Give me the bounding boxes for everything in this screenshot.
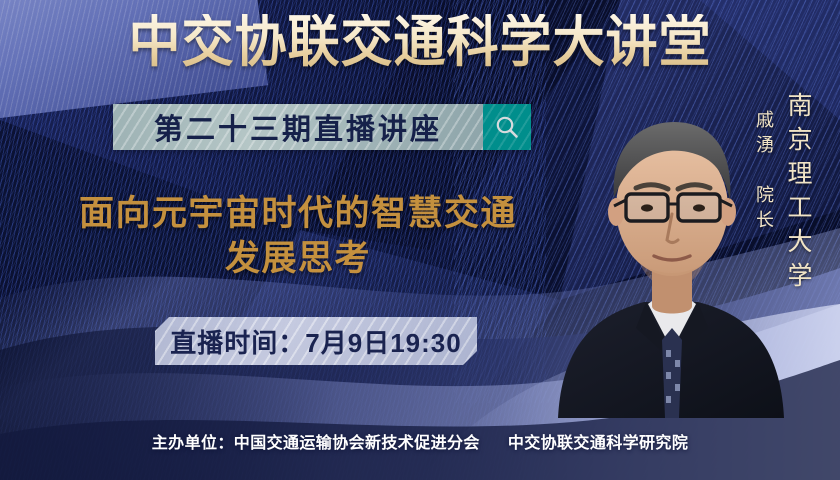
organizers-footer: 主办单位：中国交通运输协会新技术促进分会中交协联交通科学研究院 — [0, 429, 840, 453]
organizer-1: 中国交通运输协会新技术促进分会 — [234, 435, 480, 452]
live-lecture-poster: 中交协联交通科学大讲堂 第二十三期直播讲座 面向元宇宙时代的智慧交通 发展思考 … — [0, 0, 840, 480]
lecture-title-line1: 面向元宇宙时代的智慧交通 — [79, 194, 517, 233]
broadcast-time-label: 直播时间：7月9日19:30 — [170, 323, 461, 360]
status-badge: 直播时间：7月9日19:30 — [155, 317, 477, 365]
episode-banner-fill: 第二十三期直播讲座 — [113, 104, 483, 150]
page-title: 中交协联交通科学大讲堂 — [29, 14, 810, 70]
organizer-2: 中交协联交通科学研究院 — [508, 435, 688, 452]
organizers-prefix: 主办单位： — [152, 435, 234, 452]
lecture-title: 面向元宇宙时代的智慧交通 发展思考 — [38, 192, 558, 282]
search-icon[interactable] — [483, 104, 531, 150]
speaker-university: 南京理工大学 — [780, 92, 816, 296]
lecture-title-line2: 发展思考 — [38, 237, 558, 282]
episode-label: 第二十三期直播讲座 — [154, 106, 442, 148]
speaker-name-title: 戚湧 院长 — [751, 110, 777, 235]
episode-banner: 第二十三期直播讲座 — [113, 104, 531, 150]
